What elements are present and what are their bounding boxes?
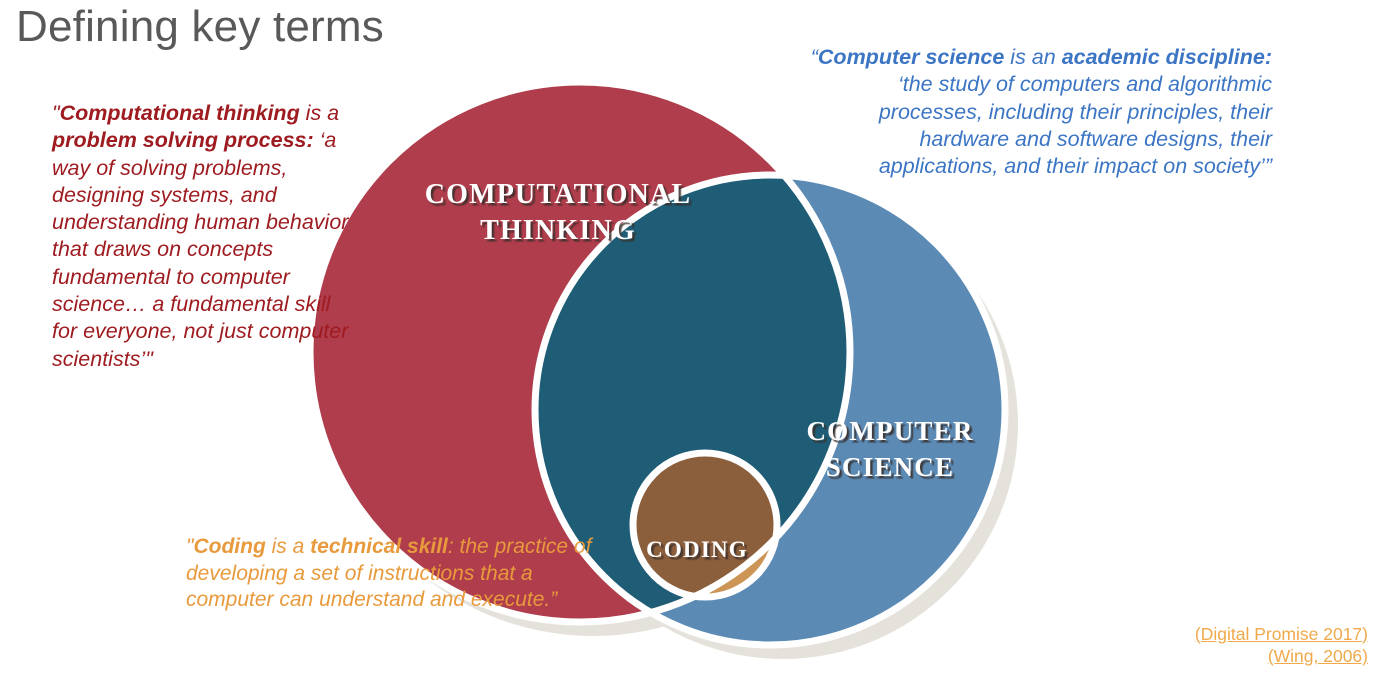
venn-label-computational-thinking-line2: THINKING [480, 215, 636, 246]
quote-cs-term: Computer science [818, 45, 1004, 69]
citation-link-wing[interactable]: (Wing, 2006) [1195, 645, 1368, 668]
quote-cs-open: “ [811, 45, 818, 69]
quote-cs-body: ‘the study of computers and algorithmic … [879, 72, 1272, 178]
citation-link-digital-promise[interactable]: (Digital Promise 2017) [1195, 623, 1368, 646]
quote-coding-mid: is a [266, 535, 310, 558]
quote-ct-phrase: problem solving process: [52, 128, 314, 152]
quote-ct-body: ‘a way of solving problems, designing sy… [52, 128, 348, 370]
quote-coding-term: Coding [193, 535, 265, 558]
quote-cs-phrase: academic discipline: [1062, 45, 1272, 69]
quote-ct-mid: is a [300, 101, 339, 125]
quote-coding-phrase: technical skill [310, 535, 448, 558]
quote-ct-open: " [52, 101, 60, 125]
quote-computer-science: “Computer science is an academic discipl… [800, 44, 1272, 180]
slide-canvas: Defining key terms [0, 0, 1384, 676]
quote-ct-term: Computational thinking [60, 101, 300, 125]
quote-computational-thinking: "Computational thinking is a problem sol… [52, 100, 352, 373]
venn-label-computer-science-line1: COMPUTER [806, 416, 973, 446]
venn-label-computer-science-line2: SCIENCE [826, 452, 954, 482]
quote-cs-mid: is an [1004, 45, 1061, 69]
quote-coding: "Coding is a technical skill: the practi… [186, 534, 604, 614]
citations: (Digital Promise 2017) (Wing, 2006) [1195, 623, 1368, 669]
venn-label-computational-thinking-line1: COMPUTATIONAL [425, 179, 692, 210]
venn-label-coding: CODING [646, 537, 748, 562]
